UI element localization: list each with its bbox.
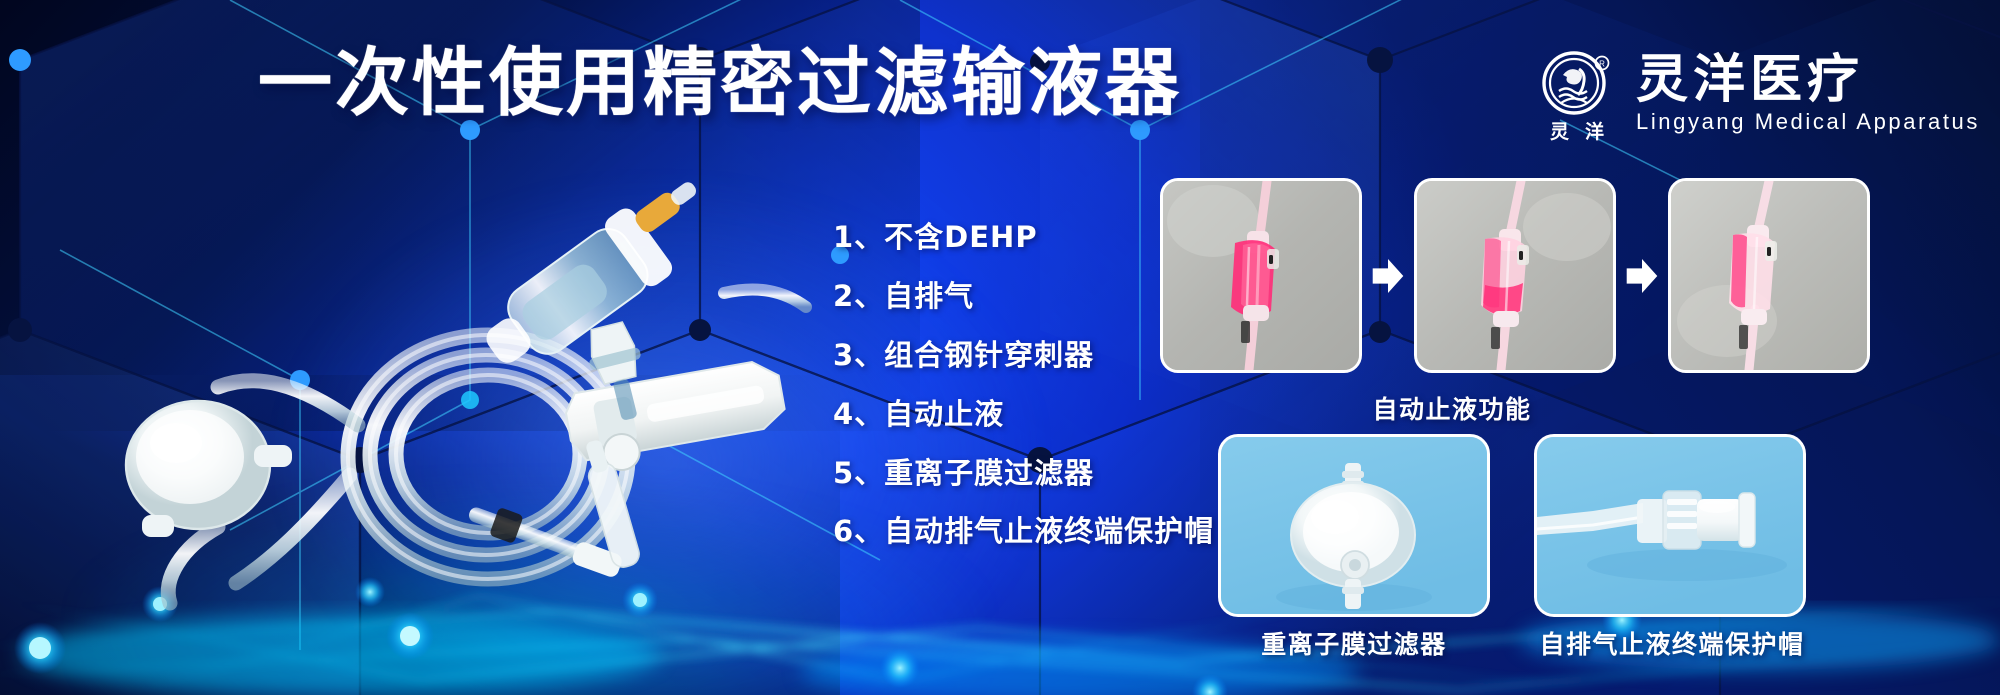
feature-item-4: 4、自动止液 [833, 399, 1214, 431]
promotional-banner: 一次性使用精密过滤输液器 R 灵洋 灵洋医疗 Lingyan [0, 0, 2000, 695]
sequence-arrow-1 [1362, 257, 1414, 295]
protective-cap-panel [1534, 434, 1806, 617]
page-title: 一次性使用精密过滤输液器 [258, 46, 1182, 120]
logo-sub-characters: 灵洋 [1534, 123, 1620, 142]
feature-item-5: 5、重离子膜过滤器 [833, 458, 1214, 490]
feature-item-6: 6、自动排气止液终端保护帽 [833, 516, 1214, 548]
drip-chamber-half-panel [1414, 178, 1616, 373]
lingyang-circular-emblem-icon: R [1539, 45, 1615, 121]
feature-item-2: 2、自排气 [833, 281, 1214, 313]
filter-caption: 重离子膜过滤器 [1261, 625, 1447, 661]
logo-mark: R 灵洋 [1534, 45, 1620, 142]
feature-list: 1、不含DEHP 2、自排气 3、组合钢针穿刺器 4、自动止液 5、重离子膜过滤… [833, 222, 1214, 548]
protective-cap-caption: 自排气止液终端保护帽 [1539, 625, 1804, 661]
component-panels [1218, 434, 1806, 617]
feature-item-3: 3、组合钢针穿刺器 [833, 340, 1214, 372]
iv-infusion-set-photo [58, 175, 818, 615]
auto-stop-sequence-panels [1160, 178, 1870, 373]
company-name-cn: 灵洋医疗 [1636, 53, 1980, 107]
feature-item-1: 1、不含DEHP [833, 222, 1214, 254]
logo-wordmark: 灵洋医疗 Lingyang Medical Apparatus [1636, 53, 1980, 134]
auto-stop-caption: 自动止液功能 [1372, 390, 1531, 426]
brand-logo[interactable]: R 灵洋 灵洋医疗 Lingyang Medical Apparatus [1534, 45, 1980, 142]
company-name-en: Lingyang Medical Apparatus [1636, 110, 1980, 134]
sequence-arrow-2 [1616, 257, 1668, 295]
heavy-ion-membrane-filter-panel [1218, 434, 1490, 617]
drip-chamber-full-panel [1160, 178, 1362, 373]
svg-text:R: R [1599, 60, 1605, 69]
drip-chamber-empty-panel [1668, 178, 1870, 373]
